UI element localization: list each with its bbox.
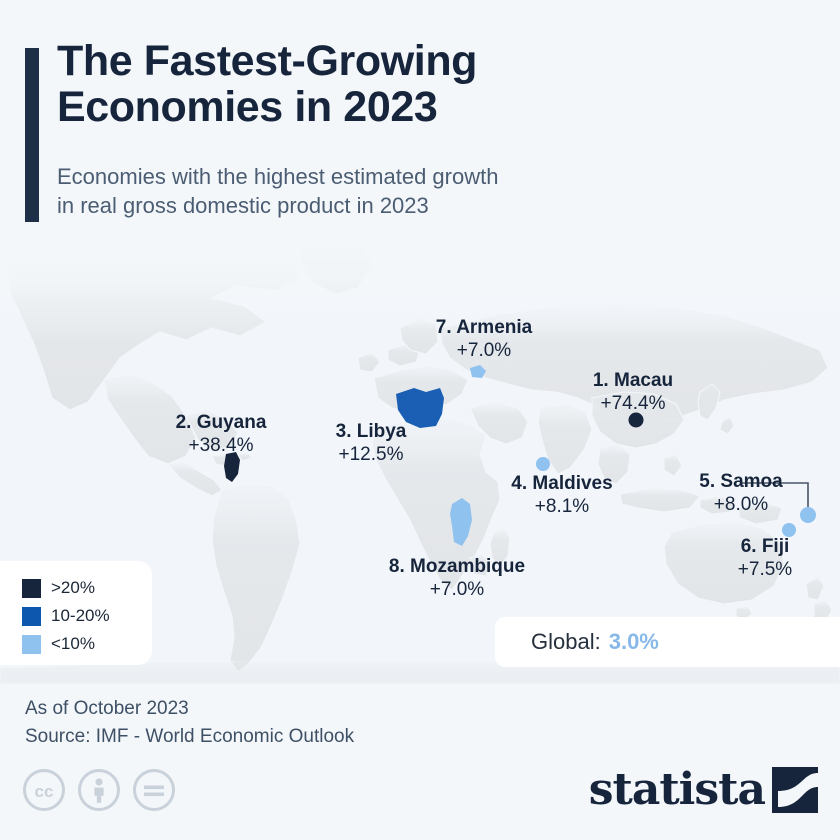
legend-label-high: >20% (51, 578, 95, 598)
map-label-macau: 1. Macau +74.4% (593, 370, 673, 415)
map-label-guyana: 2. Guyana +38.4% (176, 412, 267, 457)
cc-nd-equals-icon[interactable] (132, 768, 176, 812)
statista-wordmark: statista (589, 768, 765, 812)
map-label-mozambique: 8. Mozambique +7.0% (389, 556, 525, 601)
cc-by-person-icon[interactable] (77, 768, 121, 812)
marker-samoa (800, 507, 816, 523)
source-line: Source: IMF - World Economic Outlook (25, 726, 354, 748)
as-of-date: As of October 2023 (25, 698, 189, 720)
map-label-armenia: 7. Armenia +7.0% (436, 317, 532, 362)
subtitle-line-1: Economies with the highest estimated gro… (57, 164, 498, 189)
legend-label-mid: 10-20% (51, 606, 110, 626)
title-line-1: The Fastest-Growing (57, 37, 477, 85)
legend-item-mid: 10-20% (22, 602, 152, 630)
legend-label-low: <10% (51, 634, 95, 654)
map-legend: >20% 10-20% <10% (0, 561, 152, 665)
legend-item-high: >20% (22, 574, 152, 602)
cc-icon[interactable]: cc (22, 768, 66, 812)
global-growth-box: Global: 3.0% (495, 617, 840, 667)
legend-swatch-high (22, 579, 41, 598)
legend-item-low: <10% (22, 630, 152, 658)
footer: As of October 2023 Source: IMF - World E… (0, 684, 840, 840)
page-subtitle: Economies with the highest estimated gro… (57, 162, 757, 220)
creative-commons-icons: cc (22, 768, 176, 812)
statista-logo[interactable]: statista (589, 767, 818, 813)
map-label-fiji: 6. Fiji +7.5% (738, 536, 792, 581)
map-label-libya: 3. Libya +12.5% (336, 421, 407, 466)
infographic-root: The Fastest-Growing Economies in 2023 Ec… (0, 0, 840, 840)
subtitle-line-2: in real gross domestic product in 2023 (57, 191, 757, 220)
marker-maldives (536, 457, 550, 471)
header: The Fastest-Growing Economies in 2023 Ec… (0, 0, 840, 240)
page-title: The Fastest-Growing Economies in 2023 (57, 38, 757, 131)
title-line-2: Economies in 2023 (57, 84, 757, 130)
map-label-maldives: 4. Maldives +8.1% (511, 473, 612, 518)
global-label: Global: (531, 629, 601, 655)
title-accent-bar (25, 48, 39, 222)
legend-swatch-mid (22, 607, 41, 626)
statista-mark-icon (772, 767, 818, 813)
map-label-samoa: 5. Samoa +8.0% (699, 471, 782, 516)
global-value: 3.0% (609, 629, 659, 655)
legend-swatch-low (22, 635, 41, 654)
marker-fiji (782, 523, 796, 537)
svg-text:cc: cc (35, 782, 54, 801)
